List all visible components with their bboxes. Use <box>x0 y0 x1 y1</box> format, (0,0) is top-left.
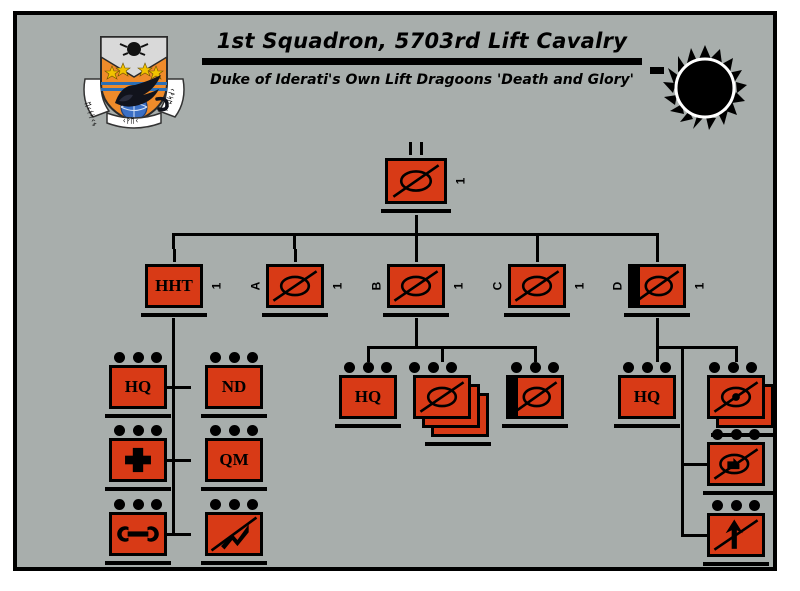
echelon-dot <box>229 352 240 363</box>
unit-troop-c[interactable]: C 1 <box>508 264 566 308</box>
unit-base-bar <box>105 561 171 565</box>
connector-hht-spine <box>172 318 175 536</box>
connector-troop-riser <box>656 233 659 249</box>
echelon-dot <box>728 362 739 373</box>
air-defense-arrow-icon <box>710 516 762 554</box>
armor-lift-icon <box>388 161 444 201</box>
unit-designator-letter: B <box>369 282 383 291</box>
unit-base-bar <box>504 313 570 317</box>
wrench-maintenance-icon <box>112 515 164 553</box>
echelon-platoon <box>205 497 263 513</box>
unit-troop-d[interactable]: D 1 <box>628 264 686 308</box>
unit-symbol-box <box>707 513 765 557</box>
echelon-dot <box>642 362 653 373</box>
echelon-dot <box>363 362 374 373</box>
unit-base-bar <box>105 487 171 491</box>
echelon-bar <box>420 142 423 155</box>
armor-lift-vehicle-icon <box>710 445 762 483</box>
echelon-dot <box>210 352 221 363</box>
echelon-bar <box>415 249 418 262</box>
unit-label: HQ <box>342 378 394 416</box>
unit-symbol-box <box>508 264 566 308</box>
connector-troop-riser <box>293 233 296 249</box>
armor-lift-icon <box>390 267 442 305</box>
unit-d-scout-platoons[interactable] <box>707 375 775 429</box>
connector-b-bus <box>367 346 537 349</box>
unit-symbol-box: HQ <box>109 365 167 409</box>
unit-d-headquarters-platoon[interactable]: HQ <box>618 375 676 419</box>
echelon-platoon <box>395 360 471 376</box>
echelon-dot <box>381 362 392 373</box>
echelon-squadron <box>385 141 447 157</box>
unit-designator: 1 <box>452 283 466 290</box>
unit-b-heavy-platoon[interactable] <box>506 375 564 419</box>
unit-label: HHT <box>148 267 200 305</box>
signal-bolt-icon <box>208 515 260 553</box>
unit-squadron-hq[interactable]: 1 <box>385 158 447 204</box>
echelon-platoon <box>707 427 765 443</box>
echelon-dot <box>731 429 742 440</box>
echelon-dot <box>623 362 634 373</box>
echelon-bar <box>656 249 659 262</box>
echelon-dot <box>247 425 258 436</box>
echelon-platoon <box>506 360 564 376</box>
echelon-dot <box>749 500 760 511</box>
unit-label: QM <box>208 441 260 479</box>
unit-troop-b[interactable]: B 1 <box>387 264 445 308</box>
unit-symbol-box: HQ <box>618 375 676 419</box>
echelon-platoon <box>205 423 263 439</box>
echelon-dot <box>229 425 240 436</box>
echelon-dot <box>511 362 522 373</box>
unit-symbol-box <box>205 512 263 556</box>
unit-symbol-box: HHT <box>145 264 203 308</box>
connector-troop-riser <box>536 233 539 249</box>
connector-d-spine <box>681 346 684 536</box>
medical-cross-icon <box>112 441 164 479</box>
echelon-bar <box>173 249 176 262</box>
unit-left-bar <box>631 267 640 305</box>
unit-designator: 1 <box>573 283 587 290</box>
echelon-platoon <box>205 350 263 366</box>
unit-hht-maintenance-platoon[interactable] <box>109 512 167 556</box>
echelon-platoon <box>707 498 765 514</box>
unit-base-bar <box>141 313 207 317</box>
echelon-dot <box>446 362 457 373</box>
echelon-platoon <box>618 360 676 376</box>
echelon-dot <box>709 362 720 373</box>
echelon-troop <box>508 248 566 264</box>
echelon-bar <box>536 249 539 262</box>
echelon-platoon <box>339 360 397 376</box>
echelon-dot <box>247 352 258 363</box>
unit-symbol-box <box>385 158 447 204</box>
unit-symbol-box <box>707 442 765 486</box>
unit-d-air-defense-platoon[interactable] <box>707 513 765 557</box>
echelon-dot <box>712 500 723 511</box>
unit-designator-letter: A <box>248 282 262 291</box>
unit-base-bar <box>201 487 267 491</box>
echelon-dot <box>151 499 162 510</box>
echelon-dot <box>151 425 162 436</box>
unit-designator: 1 <box>331 283 345 290</box>
armor-lift-dot-icon <box>710 378 762 416</box>
echelon-dot <box>114 425 125 436</box>
unit-base-bar <box>425 442 491 446</box>
echelon-dot <box>731 500 742 511</box>
unit-symbol-box <box>266 264 324 308</box>
unit-base-bar <box>703 491 773 495</box>
echelon-dot <box>344 362 355 373</box>
armor-lift-icon <box>511 267 563 305</box>
echelon-platoon <box>109 350 167 366</box>
organization-chart-page: ᚲᚹᛖᚲ ᛖᚲᚾᛋᚲᛃ ᚲᚹᛋᛖᚲᚲ 1st Squadron, 5703rd … <box>0 0 800 591</box>
unit-designator: 1 <box>693 283 707 290</box>
unit-b-headquarters-platoon[interactable]: HQ <box>339 375 397 419</box>
chart-panel: ᚲᚹᛖᚲ ᛖᚲᚾᛋᚲᛃ ᚲᚹᛋᛖᚲᚲ 1st Squadron, 5703rd … <box>13 11 777 571</box>
echelon-dot <box>530 362 541 373</box>
armor-lift-icon <box>269 267 321 305</box>
unit-troop-a[interactable]: A 1 <box>266 264 324 308</box>
unit-designator-letter: D <box>610 282 624 291</box>
unit-label: HQ <box>621 378 673 416</box>
echelon-troop <box>266 248 324 264</box>
echelon-dot <box>660 362 671 373</box>
echelon-dot <box>712 429 723 440</box>
echelon-troop <box>387 248 445 264</box>
echelon-dot <box>114 499 125 510</box>
connector-troop-riser <box>172 233 175 249</box>
connector-d-bus <box>656 346 738 349</box>
unit-base-bar <box>201 414 267 418</box>
unit-label: HQ <box>112 368 164 406</box>
echelon-dot <box>548 362 559 373</box>
unit-hht-quartermaster-platoon[interactable]: QM <box>205 438 263 482</box>
echelon-dot <box>229 499 240 510</box>
echelon-troop <box>145 248 203 264</box>
unit-base-bar <box>624 313 690 317</box>
unit-label: ND <box>208 368 260 406</box>
unit-designator: 1 <box>210 283 224 290</box>
echelon-dot <box>749 429 760 440</box>
unit-symbol-box <box>387 264 445 308</box>
echelon-dot <box>409 362 420 373</box>
unit-hht-medical-platoon[interactable] <box>109 438 167 482</box>
unit-base-bar <box>335 424 401 428</box>
echelon-dot <box>133 425 144 436</box>
unit-symbol-box <box>109 512 167 556</box>
unit-symbol-box: ND <box>205 365 263 409</box>
stacked-symbol-group <box>707 375 775 429</box>
unit-hht-headquarters-platoon[interactable]: HQ <box>109 365 167 409</box>
echelon-dot <box>210 425 221 436</box>
connector-d-rung <box>681 463 707 466</box>
unit-designator-letter: C <box>490 282 504 291</box>
unit-symbol-box <box>413 375 471 419</box>
unit-symbol-box <box>628 264 686 308</box>
unit-symbol-box <box>506 375 564 419</box>
unit-base-bar <box>502 424 568 428</box>
unit-hht-nd-platoon[interactable]: ND <box>205 365 263 409</box>
connector-b-drop <box>415 318 418 348</box>
unit-symbol-box: QM <box>205 438 263 482</box>
connector-squadron-drop <box>415 215 418 235</box>
unit-base-bar <box>105 414 171 418</box>
echelon-dot <box>133 499 144 510</box>
unit-d-recovery-platoon[interactable] <box>707 442 765 486</box>
unit-base-bar <box>201 561 267 565</box>
echelon-dot <box>746 362 757 373</box>
echelon-troop <box>628 248 686 264</box>
unit-symbol-box <box>109 438 167 482</box>
echelon-platoon <box>109 497 167 513</box>
echelon-dot <box>133 352 144 363</box>
unit-base-bar <box>262 313 328 317</box>
unit-symbol-box <box>707 375 765 419</box>
echelon-dot <box>151 352 162 363</box>
unit-base-bar <box>383 313 449 317</box>
armor-lift-icon <box>416 378 468 416</box>
unit-base-bar <box>381 209 451 213</box>
unit-base-bar <box>703 562 769 566</box>
connector-d-drop <box>656 318 659 348</box>
unit-symbol-box: HQ <box>339 375 397 419</box>
stacked-symbol-group <box>413 375 489 437</box>
unit-b-lift-platoons[interactable] <box>413 375 489 437</box>
echelon-platoon <box>699 360 767 376</box>
echelon-dot <box>210 499 221 510</box>
unit-designator: 1 <box>454 178 468 185</box>
connector-d-rung <box>681 534 707 537</box>
echelon-dot <box>428 362 439 373</box>
unit-hht-signal-platoon[interactable] <box>205 512 263 556</box>
unit-troop-hht[interactable]: HHT 1 <box>145 264 203 308</box>
echelon-dot <box>114 352 125 363</box>
echelon-platoon <box>109 423 167 439</box>
echelon-bar <box>409 142 412 155</box>
unit-hierarchy: 1 HHT 1 <box>17 15 781 575</box>
connector-troop-riser <box>415 233 418 249</box>
unit-base-bar <box>614 424 680 428</box>
echelon-bar <box>294 249 297 262</box>
unit-left-bar <box>509 378 518 416</box>
echelon-dot <box>247 499 258 510</box>
